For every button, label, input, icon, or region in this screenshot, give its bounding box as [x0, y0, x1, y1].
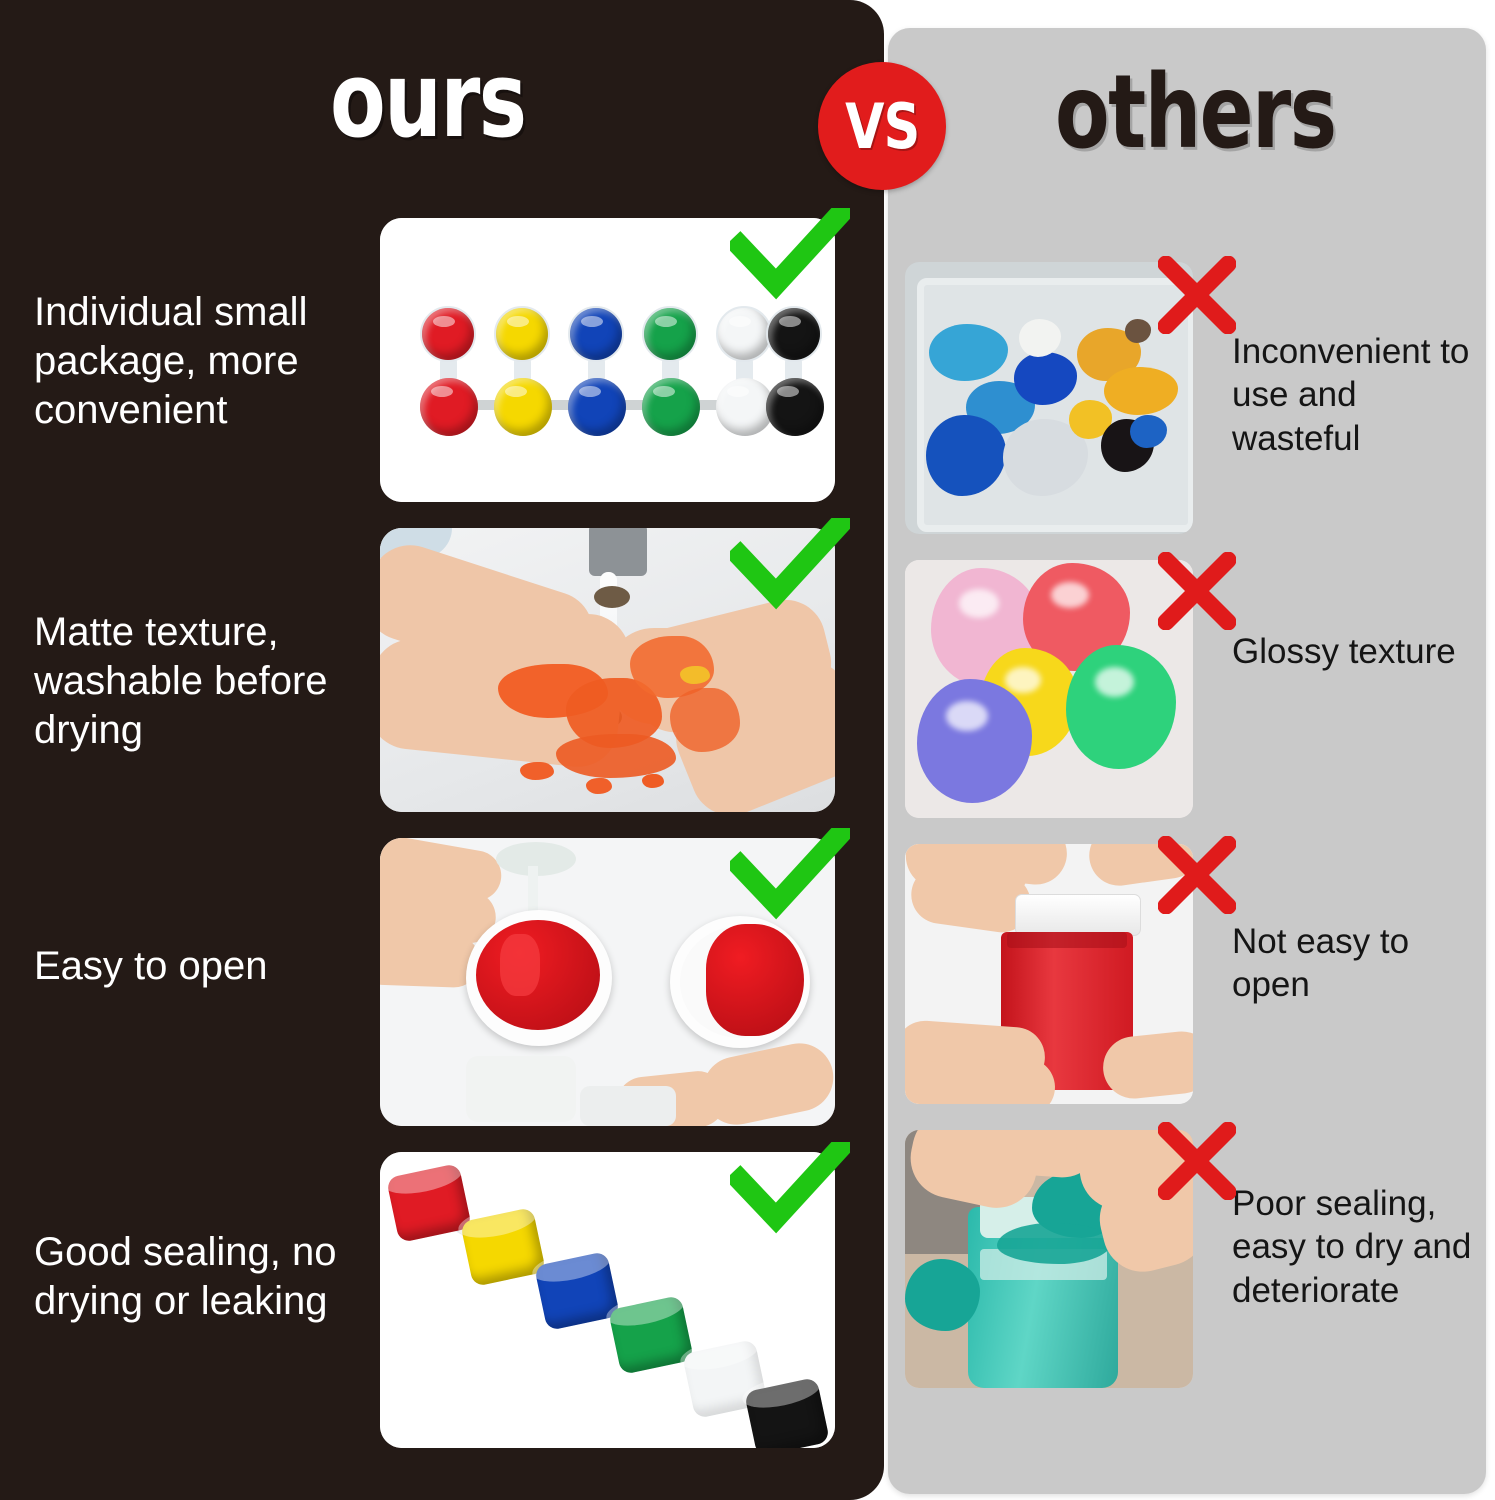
ours-image-3: [380, 838, 835, 1126]
vs-badge: VS: [818, 62, 946, 190]
others-image-1: [905, 262, 1193, 534]
vs-badge-label: VS: [845, 90, 919, 163]
others-label-2: Glossy texture: [1232, 630, 1490, 673]
ours-label-3: Easy to open: [34, 942, 364, 991]
ours-label-1: Individual small package, more convenien…: [34, 288, 364, 434]
others-label-4: Poor sealing, easy to dry and deteriorat…: [1232, 1182, 1490, 1312]
others-image-2: [905, 560, 1193, 818]
others-image-4: [905, 1130, 1193, 1388]
ours-label-2: Matte texture, washable before drying: [34, 608, 364, 754]
ours-label-4: Good sealing, no drying or leaking: [34, 1228, 364, 1326]
ours-image-1: [380, 218, 835, 502]
page-title-others: others: [1055, 62, 1336, 164]
infographic-stage: ours others VS Individual small package,…: [0, 0, 1495, 1500]
ours-image-2: [380, 528, 835, 812]
others-label-3: Not easy to open: [1232, 920, 1490, 1007]
ours-image-4: [380, 1152, 835, 1448]
others-image-3: [905, 844, 1193, 1104]
others-label-1: Inconvenient to use and wasteful: [1232, 330, 1490, 460]
page-title-ours: ours: [330, 48, 526, 152]
